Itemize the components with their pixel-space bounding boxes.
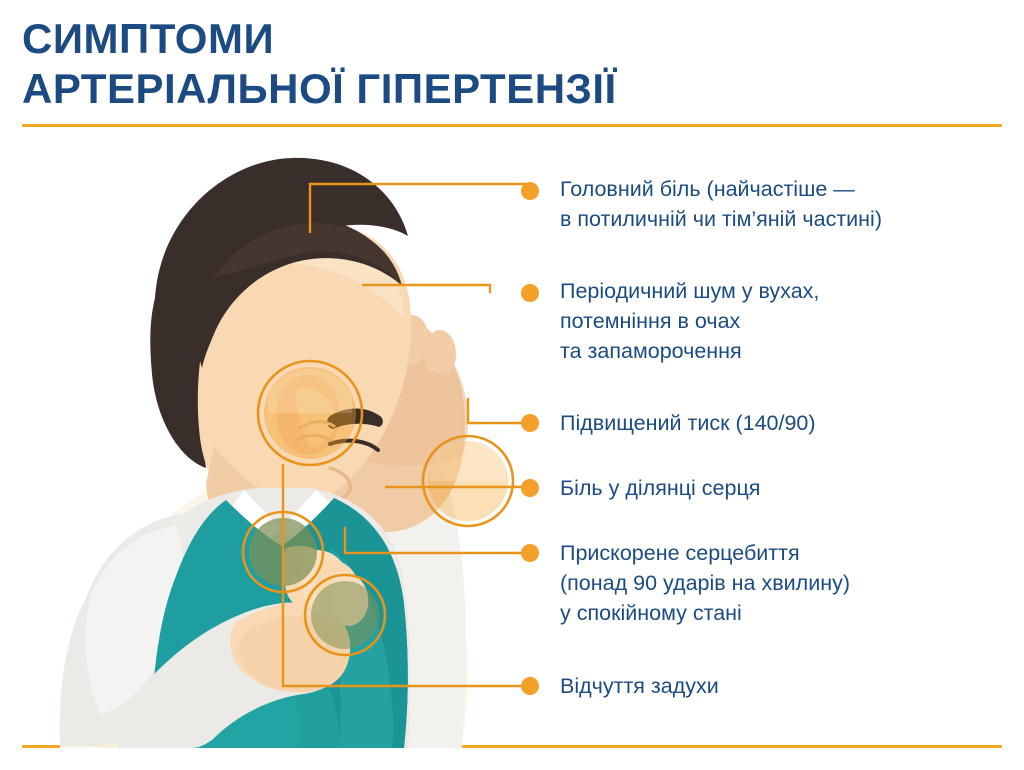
symptom-label-headache: Головний біль (найчастіше — в потиличній… (560, 174, 1010, 234)
symptom-label-high-pressure: Підвищений тиск (140/90) (560, 408, 1010, 438)
symptom-label-heart-pain: Біль у ділянці серця (560, 473, 1010, 503)
symptom-label-tachycardia: Прискорене серцебиття (понад 90 ударів н… (560, 538, 1010, 628)
symptom-item-heart-pain: Біль у ділянці серця (560, 473, 1010, 503)
symptom-item-tinnitus: Періодичний шум у вухах, потемніння в оч… (560, 276, 1010, 366)
illustration-man-with-hypertension (0, 128, 560, 748)
symptom-item-high-pressure: Підвищений тиск (140/90) (560, 408, 1010, 438)
symptom-label-tinnitus: Періодичний шум у вухах, потемніння в оч… (560, 276, 1010, 366)
symptom-item-headache: Головний біль (найчастіше — в потиличній… (560, 174, 1010, 234)
infographic-page: СИМПТОМИ АРТЕРІАЛЬНОЇ ГІПЕРТЕНЗІЇ (0, 0, 1024, 770)
symptom-list: Головний біль (найчастіше — в потиличній… (560, 0, 1015, 770)
symptom-label-breathlessness: Відчуття задухи (560, 671, 1010, 701)
symptom-item-breathlessness: Відчуття задухи (560, 671, 1010, 701)
symptom-item-tachycardia: Прискорене серцебиття (понад 90 ударів н… (560, 538, 1010, 628)
